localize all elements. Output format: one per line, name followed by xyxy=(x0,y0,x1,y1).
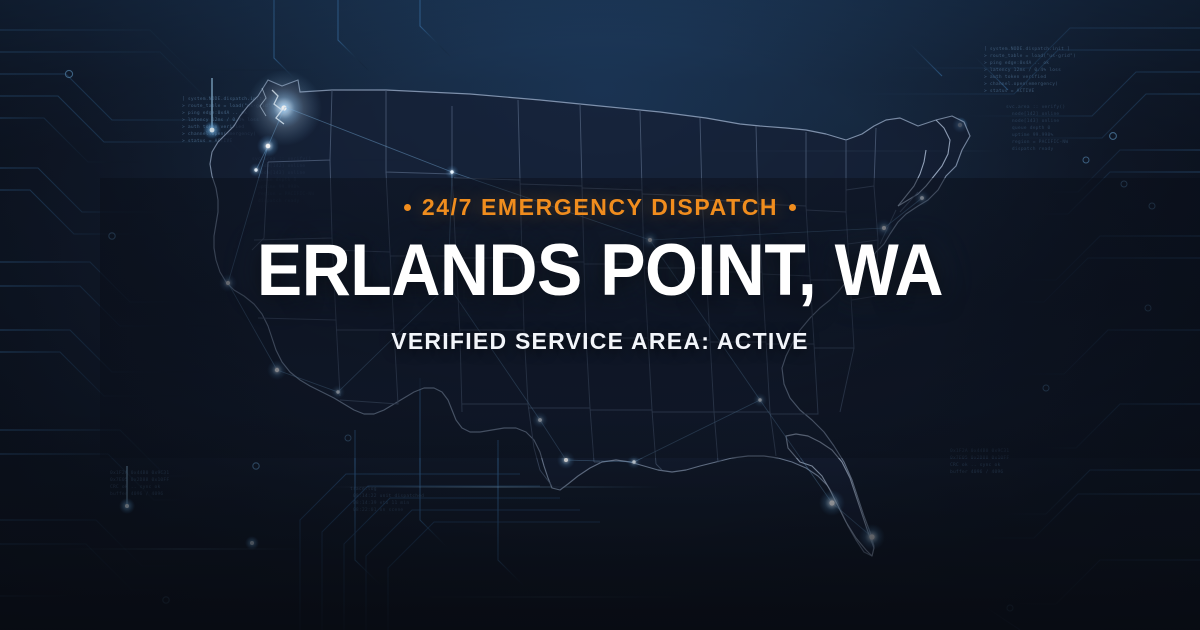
status-badge: VERIFIED SERVICE AREA: ACTIVE xyxy=(0,330,1200,353)
page-title: ERLANDS POINT, WA xyxy=(42,234,1158,308)
banner-text-stack: 24/7 EMERGENCY DISPATCH ERLANDS POINT, W… xyxy=(0,196,1200,353)
bullet-dot-right-icon xyxy=(789,204,796,211)
eyebrow-label: 24/7 EMERGENCY DISPATCH xyxy=(422,194,778,220)
bullet-dot-left-icon xyxy=(404,204,411,211)
eyebrow-emergency-dispatch: 24/7 EMERGENCY DISPATCH xyxy=(0,196,1200,219)
background-bottom-fade xyxy=(0,410,1200,630)
service-area-banner: [ system.NODE.dispatch.init ] > route_ta… xyxy=(0,0,1200,630)
